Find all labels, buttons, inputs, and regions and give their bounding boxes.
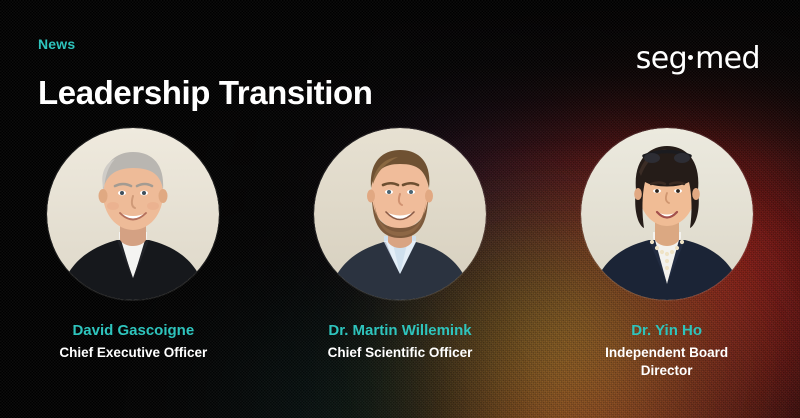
avatar [581,128,753,300]
person-name: Dr. Martin Willemink [328,322,471,340]
logo-dot-icon [688,55,693,60]
list-item: Dr. Martin Willemink Chief Scientific Of… [281,128,519,362]
list-item: Dr. Yin Ho Independent Board Director [548,128,786,380]
person-title: Independent Board Director [592,344,742,380]
eyebrow-label: News [38,36,75,52]
person-name: Dr. Yin Ho [631,322,702,340]
leadership-list: David Gascoigne Chief Executive Officer [0,128,800,380]
portrait-martin-willemink [314,128,486,300]
avatar [314,128,486,300]
logo-text-med: med [695,41,760,76]
portrait-david-gascoigne [47,128,219,300]
person-title: Chief Executive Officer [59,344,207,362]
portrait-yin-ho [581,128,753,300]
avatar [47,128,219,300]
person-name: David Gascoigne [72,322,194,340]
segmed-logo[interactable]: seg med [636,41,760,76]
list-item: David Gascoigne Chief Executive Officer [14,128,252,362]
person-title: Chief Scientific Officer [328,344,473,362]
page-title: Leadership Transition [38,74,373,112]
announcement-graphic: News Leadership Transition seg med [0,0,800,418]
logo-text-seg: seg [636,41,687,76]
